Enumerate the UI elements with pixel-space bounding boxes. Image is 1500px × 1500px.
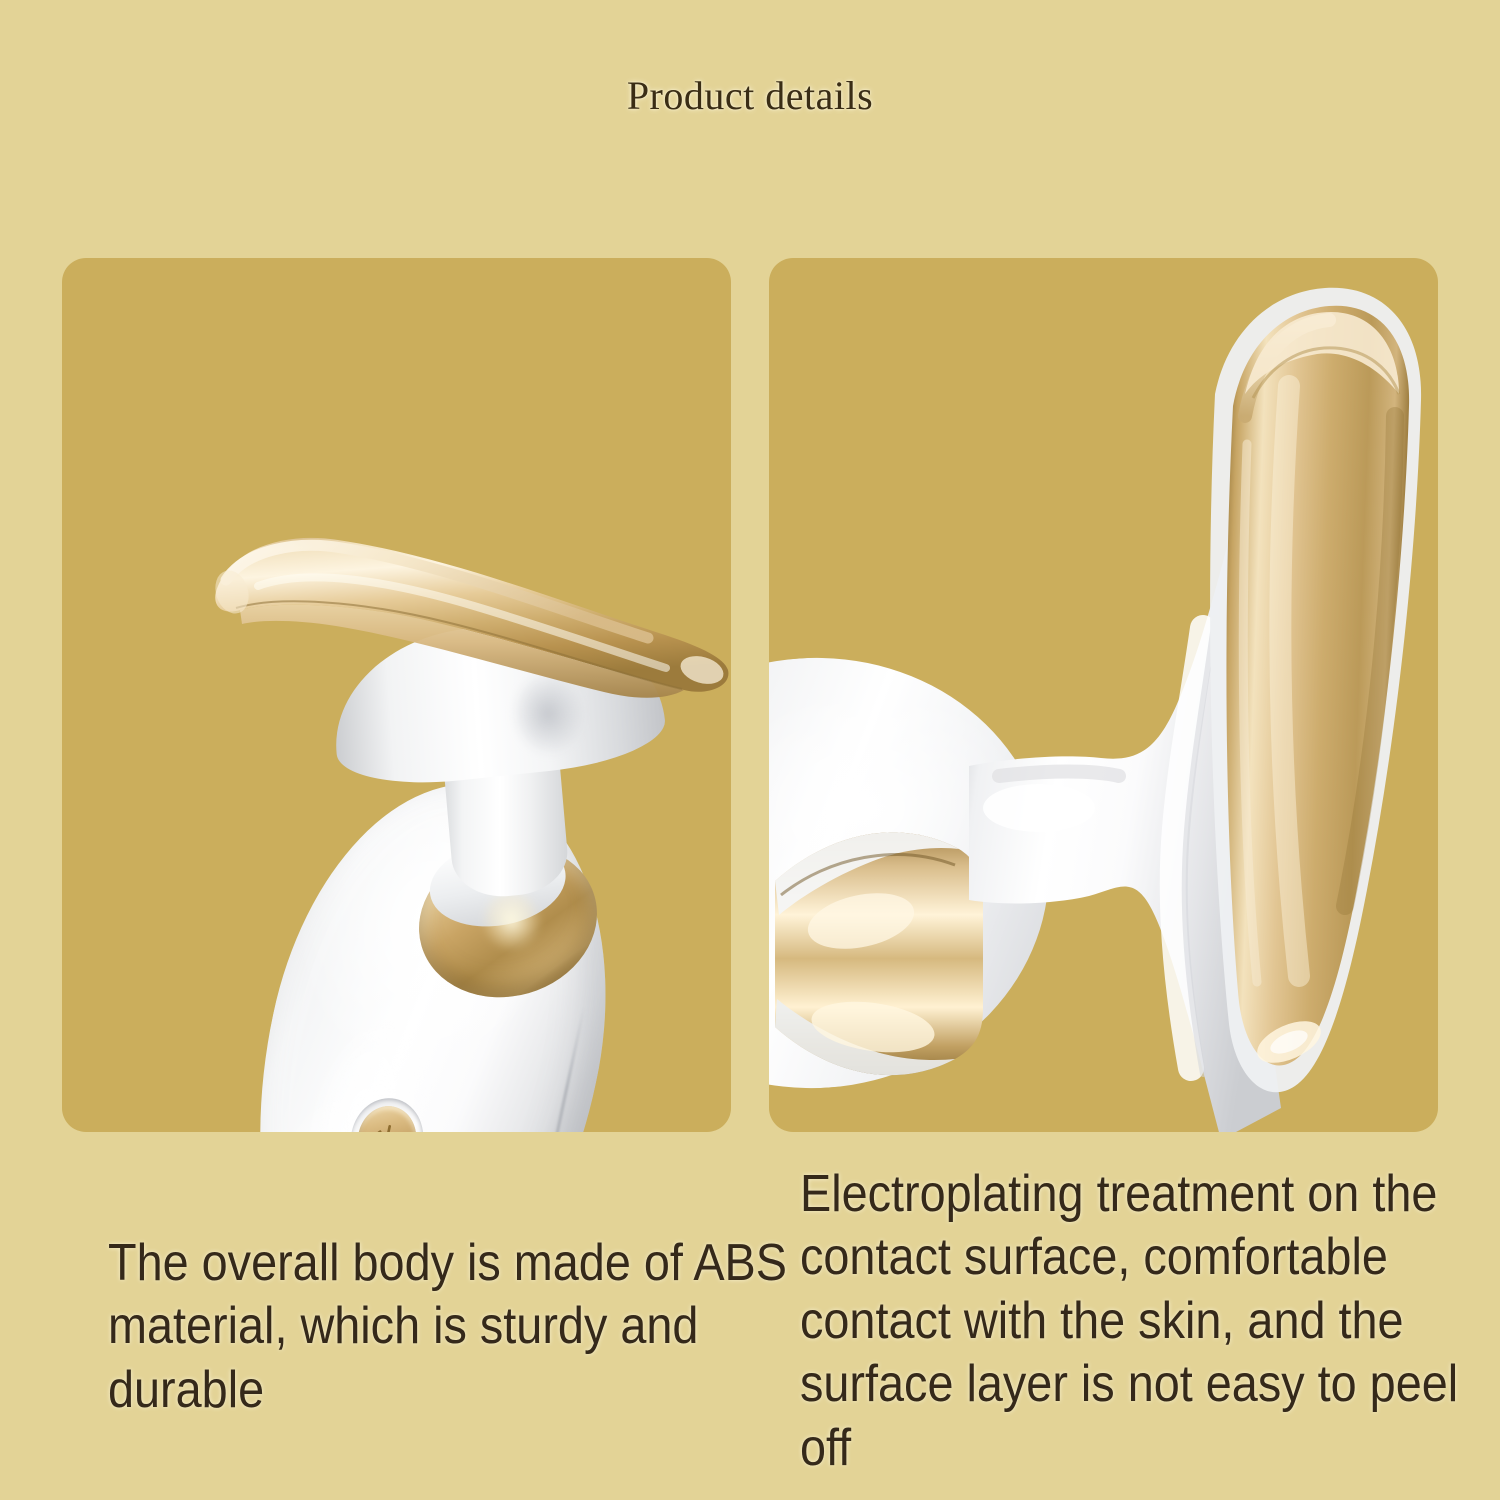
caption-left: The overall body is made of ABS material… <box>108 1232 792 1422</box>
caption-right: Electroplating treatment on the contact … <box>800 1163 1466 1480</box>
product-details-page: Product details <box>0 0 1500 1500</box>
gold-crescent-head <box>196 530 731 706</box>
page-title: Product details <box>0 72 1500 119</box>
product-image-panel-right <box>769 258 1438 1132</box>
gold-contact-bar <box>1149 276 1438 1116</box>
product-image-panel-left <box>62 258 731 1132</box>
body-seam-line <box>524 1007 585 1132</box>
